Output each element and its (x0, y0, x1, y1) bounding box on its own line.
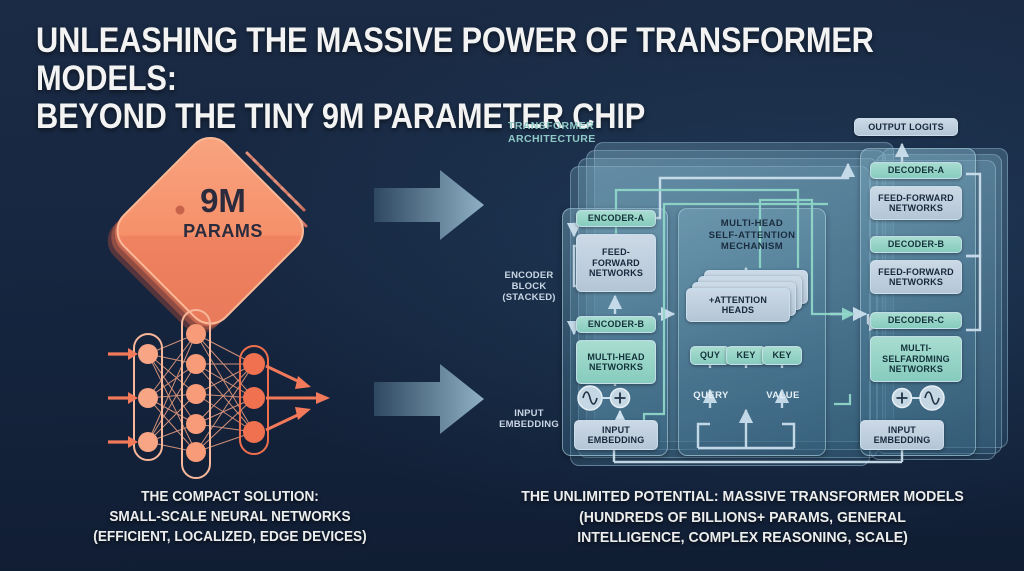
chip-notch-dot (176, 206, 185, 215)
encoder-a-body-line-3: NETWORKS (589, 268, 643, 279)
encoder-block-label-line-3: (STACKED) (498, 292, 560, 303)
encoder-b-body-line-1: MULTI-HEAD (587, 352, 644, 363)
right-caption-line-1: THE UNLIMITED POTENTIAL: MASSIVE TRANSFO… (486, 487, 998, 508)
decoder-b-header[interactable]: DECODER-B (870, 236, 962, 253)
encoder-b-header[interactable]: ENCODER-B (576, 316, 656, 333)
attention-heads-line-2: HEADS (722, 305, 755, 316)
infographic-canvas: UNLEASHING THE MASSIVE POWER OF TRANSFOR… (0, 0, 1024, 571)
input-embedding-side-label-line-2: EMBEDDING (498, 419, 560, 430)
nn-input-nodes (138, 344, 158, 452)
decoder-b-body-line-2: NETWORKS (889, 277, 943, 288)
decoder-b-body[interactable]: FEED-FORWARD NETWORKS (870, 260, 962, 294)
right-caption-line-2: (HUNDREDS OF BILLIONS+ PARAMS, GENERAL (486, 508, 998, 529)
transformer-architecture-diagram: TRANSFORMER ARCHITECTURE (498, 118, 1024, 473)
output-logits-node[interactable]: OUTPUT LOGITS (854, 118, 958, 136)
input-embedding-right-line-2: EMBEDDING (874, 435, 931, 446)
attention-title-line-3: MECHANISM (684, 241, 820, 253)
right-caption: THE UNLIMITED POTENTIAL: MASSIVE TRANSFO… (486, 487, 998, 549)
input-embedding-box-left[interactable]: INPUT EMBEDDING (574, 420, 658, 450)
decoder-a-body[interactable]: FEED-FORWARD NETWORKS (870, 186, 962, 220)
decoder-a-header[interactable]: DECODER-A (870, 162, 962, 179)
left-caption-line-1: THE COMPACT SOLUTION: (33, 487, 428, 507)
decoder-c-body[interactable]: MULTI- SELFARDMING NETWORKS (870, 336, 962, 382)
decoder-c-body-line-1: MULTI- (900, 343, 931, 354)
decoder-b-body-line-1: FEED-FORWARD (878, 267, 954, 278)
nn-output-nodes (243, 353, 265, 443)
left-caption-line-2: SMALL-SCALE NEURAL NETWORKS (33, 507, 428, 527)
qkv-box-value[interactable]: KEY (762, 346, 802, 365)
input-embedding-left-line-2: EMBEDDING (588, 435, 645, 446)
encoder-block-side-label: ENCODER BLOCK (STACKED) (498, 270, 560, 303)
input-embedding-right-line-1: INPUT (888, 425, 916, 436)
attention-heads-node[interactable]: +ATTENTION HEADS (686, 288, 790, 322)
input-embedding-side-label-line-1: INPUT (498, 408, 560, 419)
qkv-box-query[interactable]: QUY (690, 346, 730, 365)
attention-title-line-2: SELF-ATTENTION (684, 230, 820, 242)
flow-arrow-bottom (374, 360, 484, 438)
qkv-sublabel-query: QUERY (684, 390, 738, 403)
decoder-c-body-line-3: NETWORKS (889, 364, 943, 375)
attention-title-line-1: MULTI-HEAD (684, 218, 820, 230)
positional-encoding-group-right (866, 378, 946, 418)
encoder-a-body[interactable]: FEED- FORWARD NETWORKS (576, 234, 656, 292)
nn-output-arrows (266, 366, 330, 430)
chip-value-label: 9M (200, 182, 246, 219)
encoder-b-body-line-2: NETWORKS (589, 362, 643, 373)
right-caption-line-3: INTELLIGENCE, COMPLEX REASONING, SCALE) (486, 528, 998, 549)
left-caption: THE COMPACT SOLUTION: SMALL-SCALE NEURAL… (33, 487, 428, 547)
decoder-c-body-line-2: SELFARDMING (882, 354, 950, 365)
encoder-block-label-line-1: ENCODER (498, 270, 560, 281)
attention-heads-line-1: +ATTENTION (709, 295, 767, 306)
chip-graphic: 9M PARAMS 9M PARAMS (118, 142, 328, 277)
input-embedding-left-line-1: INPUT (602, 425, 630, 436)
decoder-a-body-line-2: NETWORKS (889, 203, 943, 214)
title-line-1: UNLEASHING THE MASSIVE POWER OF TRANSFOR… (36, 21, 874, 98)
encoder-a-header[interactable]: ENCODER-A (576, 210, 656, 227)
encoder-a-body-line-1: FEED- (602, 247, 630, 258)
attention-title: MULTI-HEAD SELF-ATTENTION MECHANISM (684, 218, 820, 253)
neural-network-graphic (108, 332, 338, 462)
input-embedding-box-right[interactable]: INPUT EMBEDDING (860, 420, 944, 450)
decoder-c-header[interactable]: DECODER-C (870, 312, 962, 329)
positional-encoding-group-left (576, 378, 656, 418)
encoder-block-label-line-2: BLOCK (498, 281, 560, 292)
chip-unit-label: PARAMS (183, 221, 263, 241)
encoder-a-body-line-2: FORWARD (592, 258, 640, 269)
flow-arrow-top (374, 166, 484, 244)
left-caption-line-3: (EFFICIENT, LOCALIZED, EDGE DEVICES) (33, 527, 428, 547)
decoder-a-body-line-1: FEED-FORWARD (878, 193, 954, 204)
qkv-sublabel-value: VALUE (756, 390, 810, 403)
qkv-box-key[interactable]: KEY (726, 346, 766, 365)
input-embedding-side-label: INPUT EMBEDDING (498, 408, 560, 430)
